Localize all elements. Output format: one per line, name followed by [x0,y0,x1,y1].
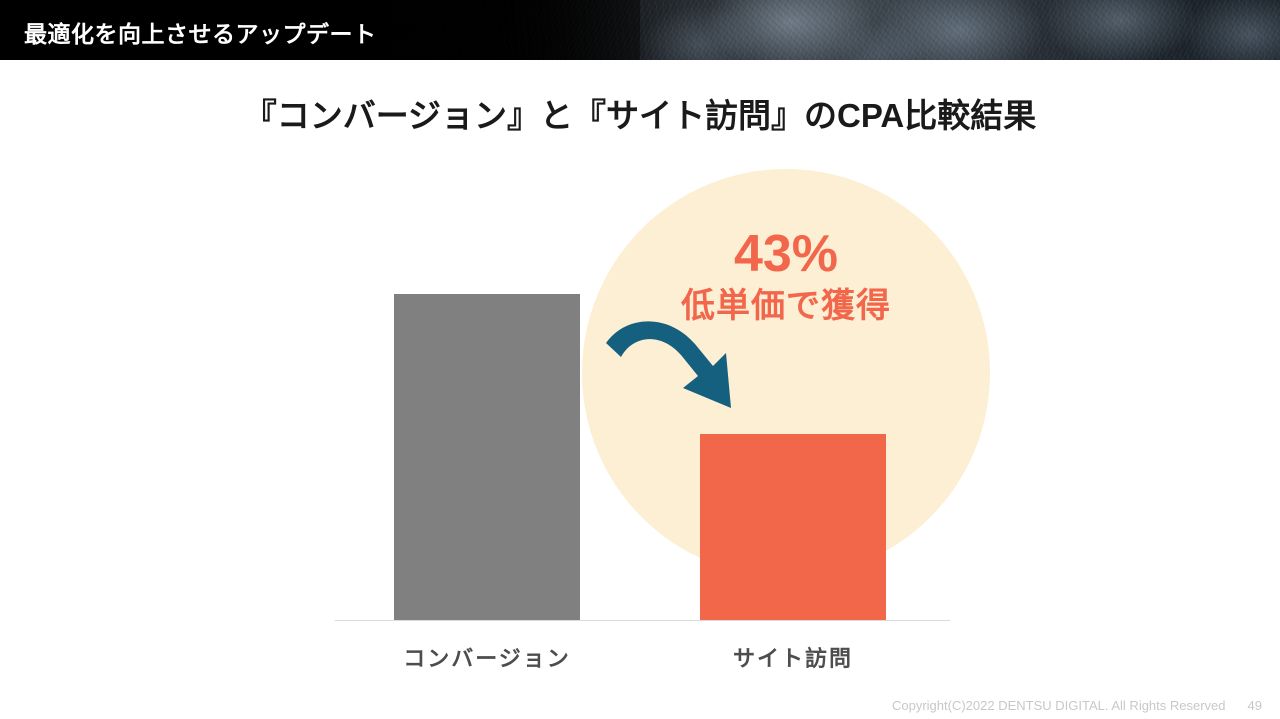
bar-site-visit [700,434,886,620]
copyright-text: Copyright(C)2022 DENTSU DIGITAL. All Rig… [892,698,1226,713]
callout-label: 低単価で獲得 [636,288,936,325]
bar-conversion [394,294,580,620]
axis-label-site-visit: サイト訪問 [643,641,943,673]
callout-annotation: 43% 低単価で獲得 [636,228,936,325]
bar-chart: コンバージョン サイト訪問 43% 低単価で獲得 [0,0,1280,719]
page-number: 49 [1248,698,1262,713]
callout-percent: 43% [636,228,936,280]
slide-footer: Copyright(C)2022 DENTSU DIGITAL. All Rig… [892,698,1262,713]
axis-label-conversion: コンバージョン [337,641,637,673]
chart-baseline-axis [335,620,950,621]
